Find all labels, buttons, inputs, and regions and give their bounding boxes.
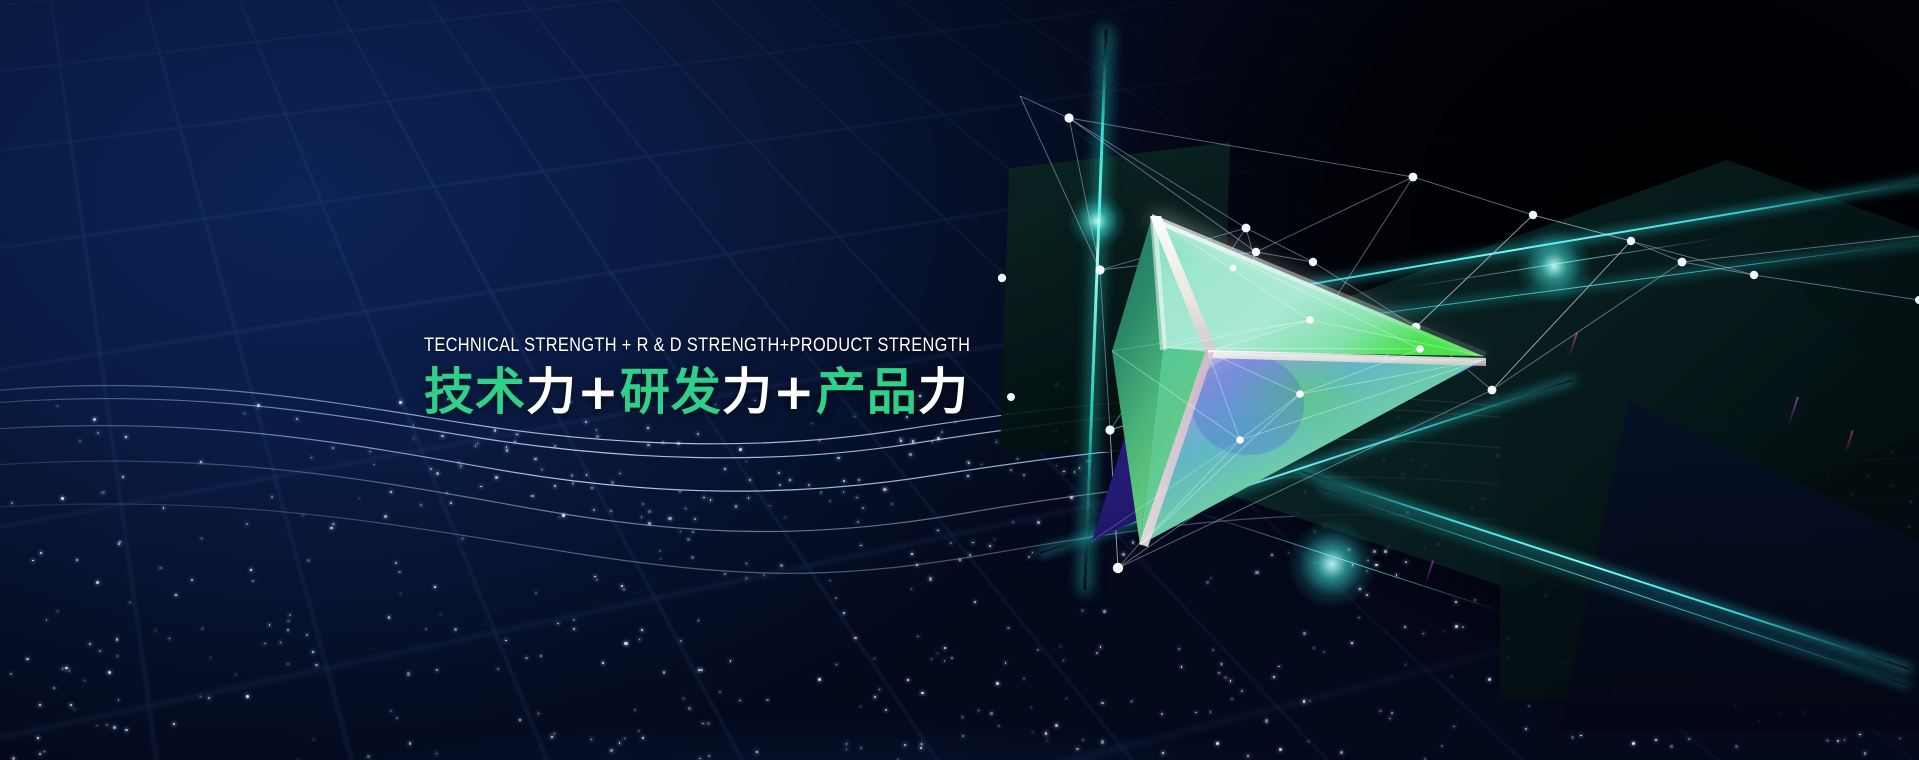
headline-segment-2: + — [577, 363, 620, 421]
hero-copy: TECHNICAL STRENGTH + R & D STRENGTH+PROD… — [424, 335, 1144, 419]
headline-segment-6: 产品 — [816, 363, 918, 421]
headline-segment-5: + — [773, 363, 816, 421]
hero-banner: TECHNICAL STRENGTH + R & D STRENGTH+PROD… — [0, 0, 1919, 760]
headline-segment-7: 力 — [918, 363, 969, 421]
headline-segment-0: 技术 — [424, 363, 526, 421]
headline-segment-3: 研发 — [620, 363, 722, 421]
headline-segment-4: 力 — [722, 363, 773, 421]
headline-segment-1: 力 — [526, 363, 577, 421]
hero-eyebrow: TECHNICAL STRENGTH + R & D STRENGTH+PROD… — [424, 335, 1029, 356]
hero-headline: 技术力+研发力+产品力 — [424, 365, 1144, 419]
